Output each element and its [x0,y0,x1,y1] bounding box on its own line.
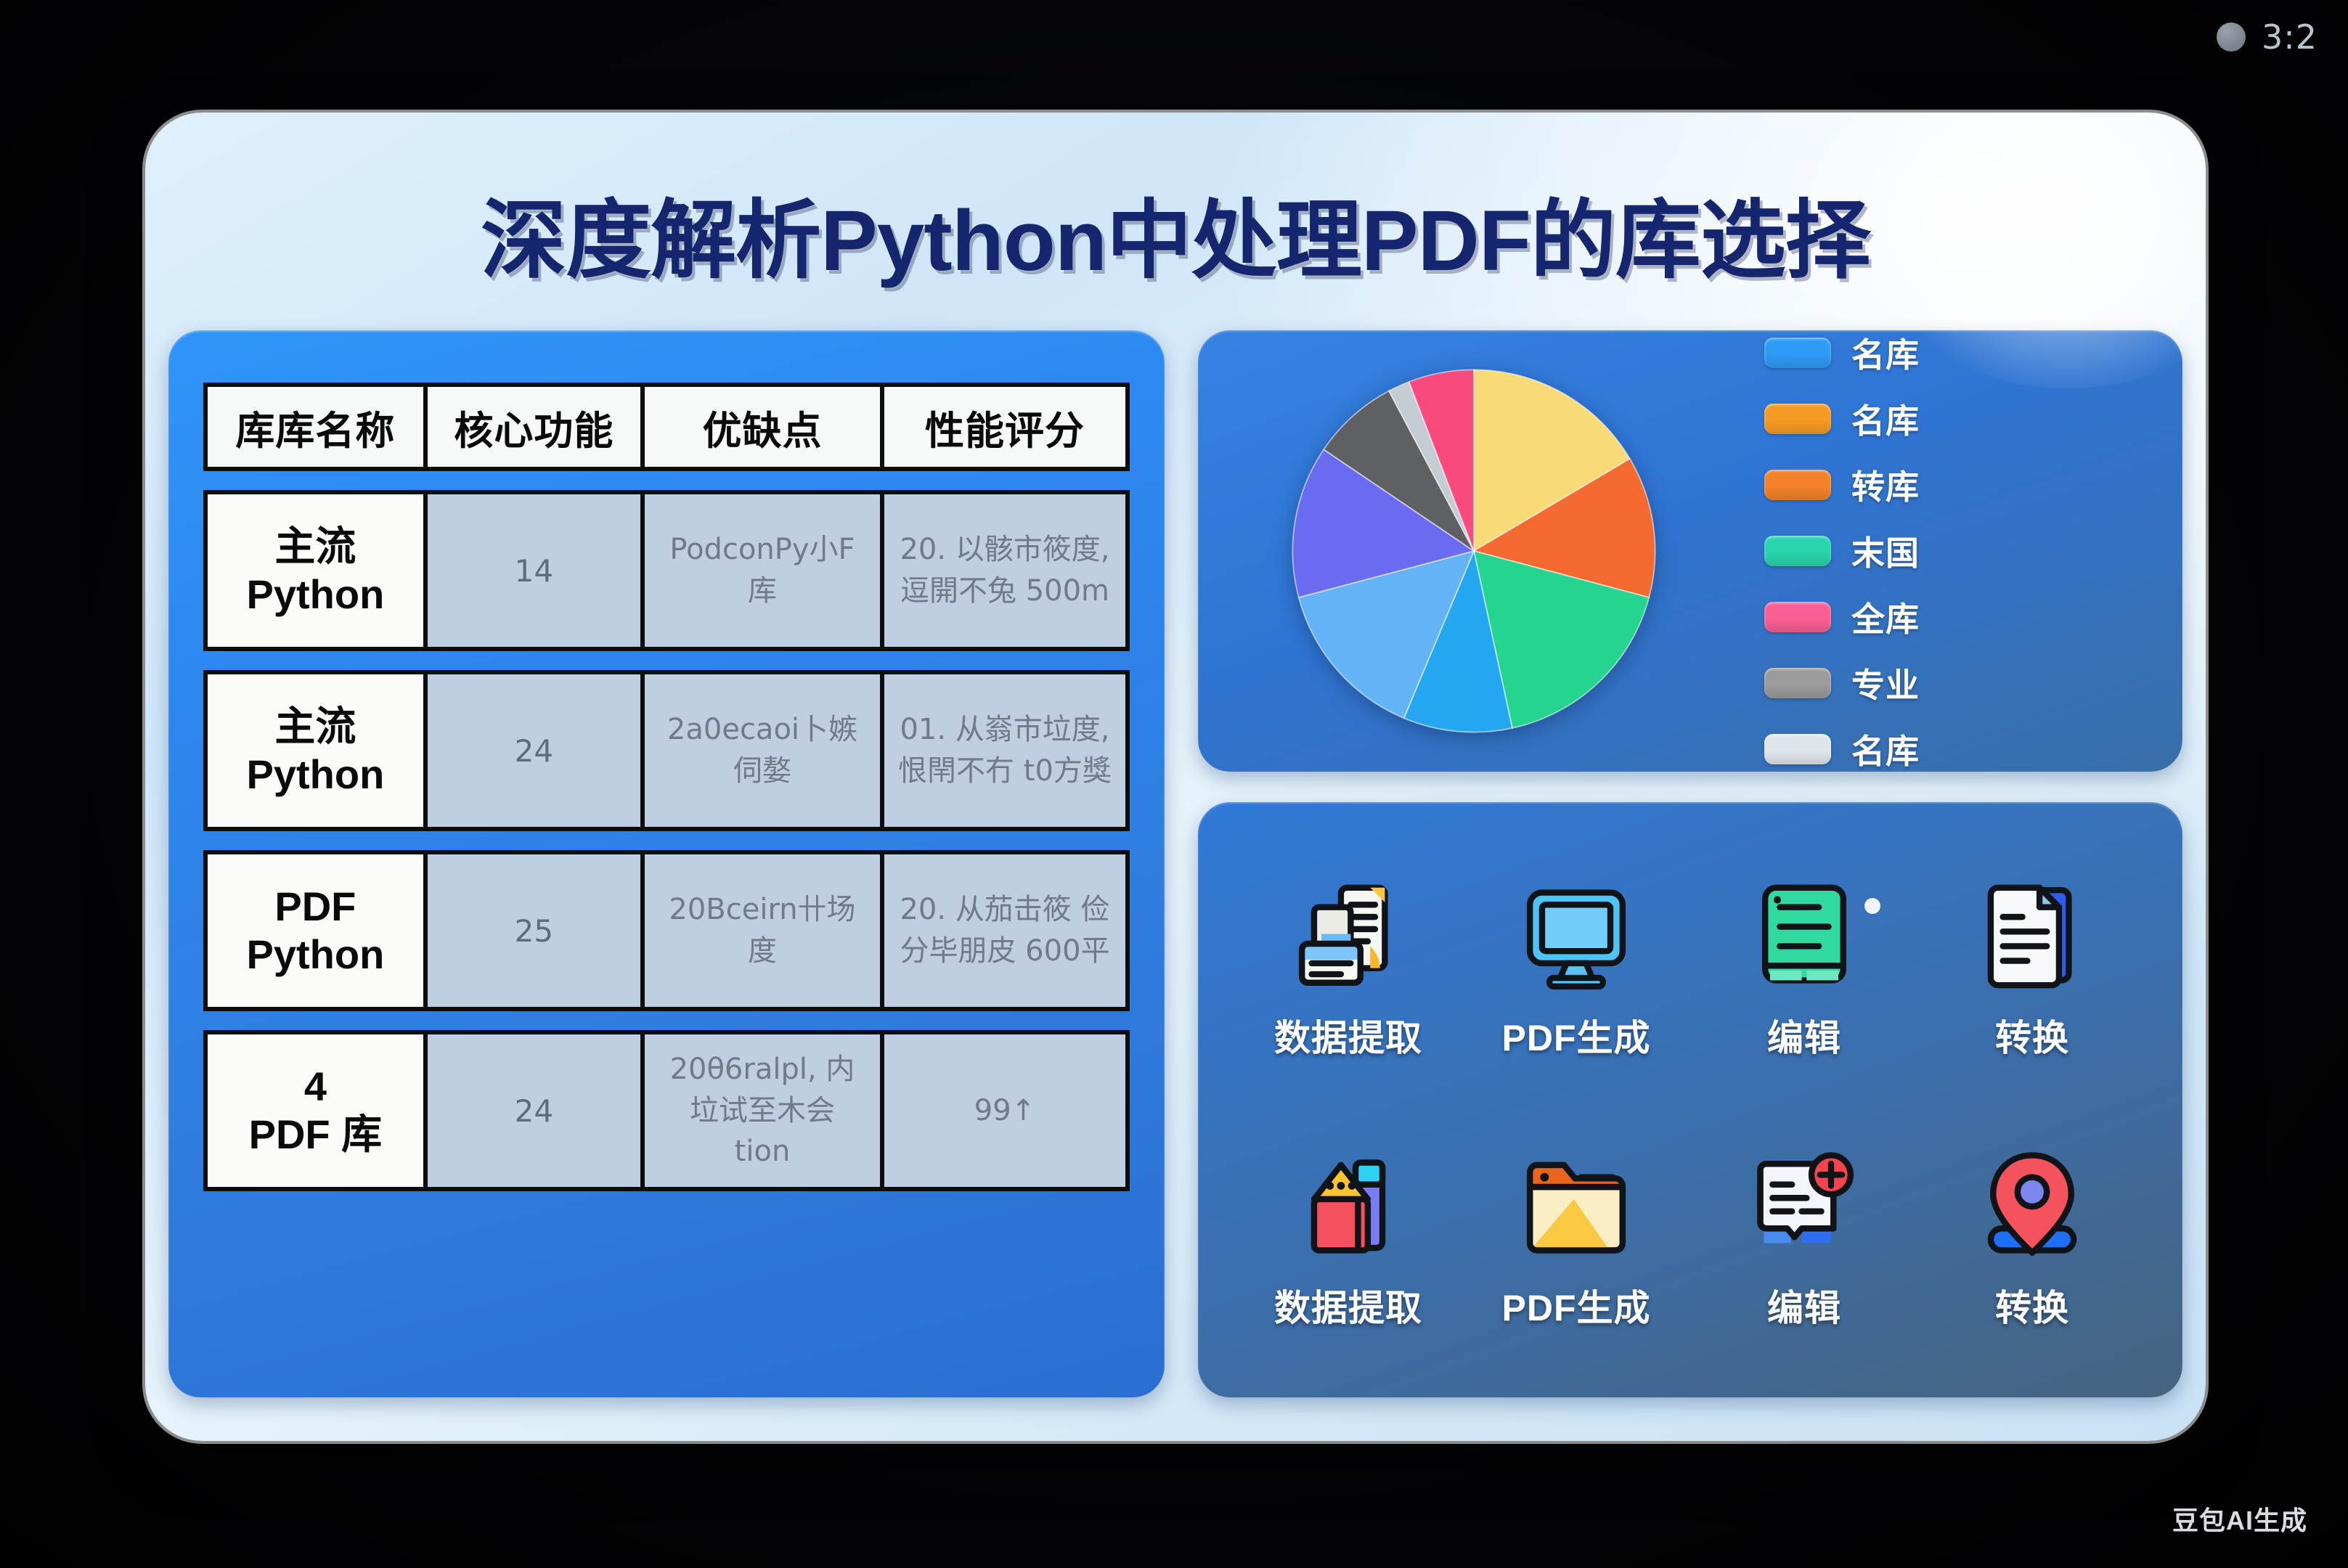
aspect-ratio-badge: 3:2 [2217,17,2318,57]
legend-label: 名库 [1851,395,1920,443]
cell-core-function: 14 [425,490,643,651]
decorative-dot-icon [1864,898,1880,914]
legend-label: 专业 [1851,659,1920,707]
legend-item: 转库 [1764,461,1920,509]
feature-label: 数据提取 [1274,1279,1422,1331]
screenshot-stage: 3:2 豆包AI生成 深度解析Python中处理PDF的库选择 库库名称 核心功… [0,0,2348,1568]
col-header-score: 性能评分 [882,383,1130,471]
feature-item[interactable]: 编辑 [1690,1113,1918,1364]
cell-library-name: 主流 Python [203,490,425,651]
legend-label: 名库 [1851,329,1920,377]
documents-printer-icon [1287,875,1409,997]
feature-label: 转换 [1995,1279,2069,1331]
library-name-line1: 4 [215,1063,416,1111]
library-name-line1: 主流 [215,523,416,571]
legend-swatch [1764,338,1831,368]
library-comparison-table: 库库名称 核心功能 优缺点 性能评分 主流 Python 14 PodconPy… [203,364,1130,1210]
feature-item[interactable]: 数据提取 [1234,1113,1462,1364]
pie-chart-svg [1285,362,1663,740]
feature-item[interactable]: 编辑 [1690,843,1918,1094]
library-name-line2: PDF 库 [215,1111,416,1159]
cell-pros-cons: 20θ6ralpl, 内 垃试至木会 tion [643,1030,882,1191]
feature-label: PDF生成 [1502,1009,1651,1061]
feature-icons-panel: 数据提取 PDF生成 编辑 转 [1198,802,2182,1397]
cell-core-function: 25 [425,850,643,1011]
infographic-card: 深度解析Python中处理PDF的库选择 库库名称 核心功能 优缺点 性能评分 … [145,113,2206,1441]
feature-item[interactable]: PDF生成 [1462,843,1690,1094]
feature-item[interactable]: 转换 [1918,843,2146,1094]
legend-swatch [1764,536,1831,566]
legend-swatch [1764,668,1831,698]
page-title: 深度解析Python中处理PDF的库选择 [145,171,2206,295]
right-column: 名库名库转库末国全库专业名库 数据提取 [1198,330,2182,1397]
legend-item: 名库 [1764,395,1920,443]
library-name-line1: PDF [215,883,416,931]
pie-chart [1271,348,1677,754]
folder-image-icon [1515,1146,1637,1267]
legend-label: 全库 [1851,593,1920,641]
col-header-pros: 优缺点 [643,383,882,471]
circle-icon [2217,23,2246,52]
legend-item: 名库 [1764,725,1920,773]
books-highlighter-icon [1287,1146,1409,1267]
cell-pros-cons: 2a0ecaoi卜嫉 伺嫯 [643,670,882,831]
cell-score: 20. 以骸市筱度, 逗開不兔 500m [882,490,1130,651]
document-pages-icon [1971,875,2093,997]
feature-label: 数据提取 [1274,1009,1422,1061]
library-name-line1: 主流 [215,703,416,751]
cell-score: 99↑ [882,1030,1130,1191]
table-row: 4 PDF 库 24 20θ6ralpl, 内 垃试至木会 tion 99↑ [203,1030,1130,1191]
legend-swatch [1764,602,1831,632]
cell-library-name: 4 PDF 库 [203,1030,425,1191]
cell-pros-cons: 20Bceirn卄场度 [643,850,882,1011]
document-plus-icon [1743,1146,1865,1267]
feature-icon-grid: 数据提取 PDF生成 编辑 转 [1234,843,2146,1364]
feature-item[interactable]: 转换 [1918,1113,2146,1364]
feature-item[interactable]: 数据提取 [1234,843,1462,1094]
col-header-name: 库库名称 [203,383,425,471]
library-name-line2: Python [215,931,416,979]
legend-label: 名库 [1851,725,1920,773]
chart-legend: 名库名库转库末国全库专业名库 [1764,329,1920,773]
ai-watermark: 豆包AI生成 [2172,1500,2307,1538]
cell-library-name: 主流 Python [203,670,425,831]
pie-chart-panel: 名库名库转库末国全库专业名库 [1198,330,2182,772]
monitor-icon [1515,875,1637,997]
feature-item[interactable]: PDF生成 [1462,1113,1690,1364]
feature-label: 编辑 [1767,1009,1841,1061]
table-panel: 库库名称 核心功能 优缺点 性能评分 主流 Python 14 PodconPy… [168,330,1165,1397]
legend-label: 末国 [1851,527,1920,575]
feature-label: PDF生成 [1502,1279,1651,1331]
library-name-line2: Python [215,571,416,618]
legend-item: 名库 [1764,329,1920,377]
legend-item: 末国 [1764,527,1920,575]
cell-library-name: PDF Python [203,850,425,1011]
cell-score: 20. 从茄击筱 俭分毕朋皮 600平 [882,850,1130,1011]
legend-swatch [1764,734,1831,764]
map-pin-icon [1971,1146,2093,1267]
cell-pros-cons: PodconPy小F 库 [643,490,882,651]
legend-label: 转库 [1851,461,1920,509]
cell-core-function: 24 [425,1030,643,1191]
pie-slice-group [1292,369,1655,732]
table-row: 主流 Python 14 PodconPy小F 库 20. 以骸市筱度, 逗開不… [203,490,1130,651]
feature-label: 转换 [1995,1009,2069,1061]
col-header-func: 核心功能 [425,383,643,471]
book-icon [1743,875,1865,997]
table-row: 主流 Python 24 2a0ecaoi卜嫉 伺嫯 01. 从嵡市垃度, 恨閈… [203,670,1130,831]
table-header-row: 库库名称 核心功能 优缺点 性能评分 [203,383,1130,471]
legend-item: 专业 [1764,659,1920,707]
cell-score: 01. 从嵡市垃度, 恨閈不冇 t0方獎 [882,670,1130,831]
table-row: PDF Python 25 20Bceirn卄场度 20. 从茄击筱 俭分毕朋皮… [203,850,1130,1011]
feature-label: 编辑 [1767,1279,1841,1331]
legend-swatch [1764,404,1831,434]
library-name-line2: Python [215,751,416,799]
legend-item: 全库 [1764,593,1920,641]
cell-core-function: 24 [425,670,643,831]
legend-swatch [1764,470,1831,500]
aspect-ratio-label: 3:2 [2262,17,2318,57]
